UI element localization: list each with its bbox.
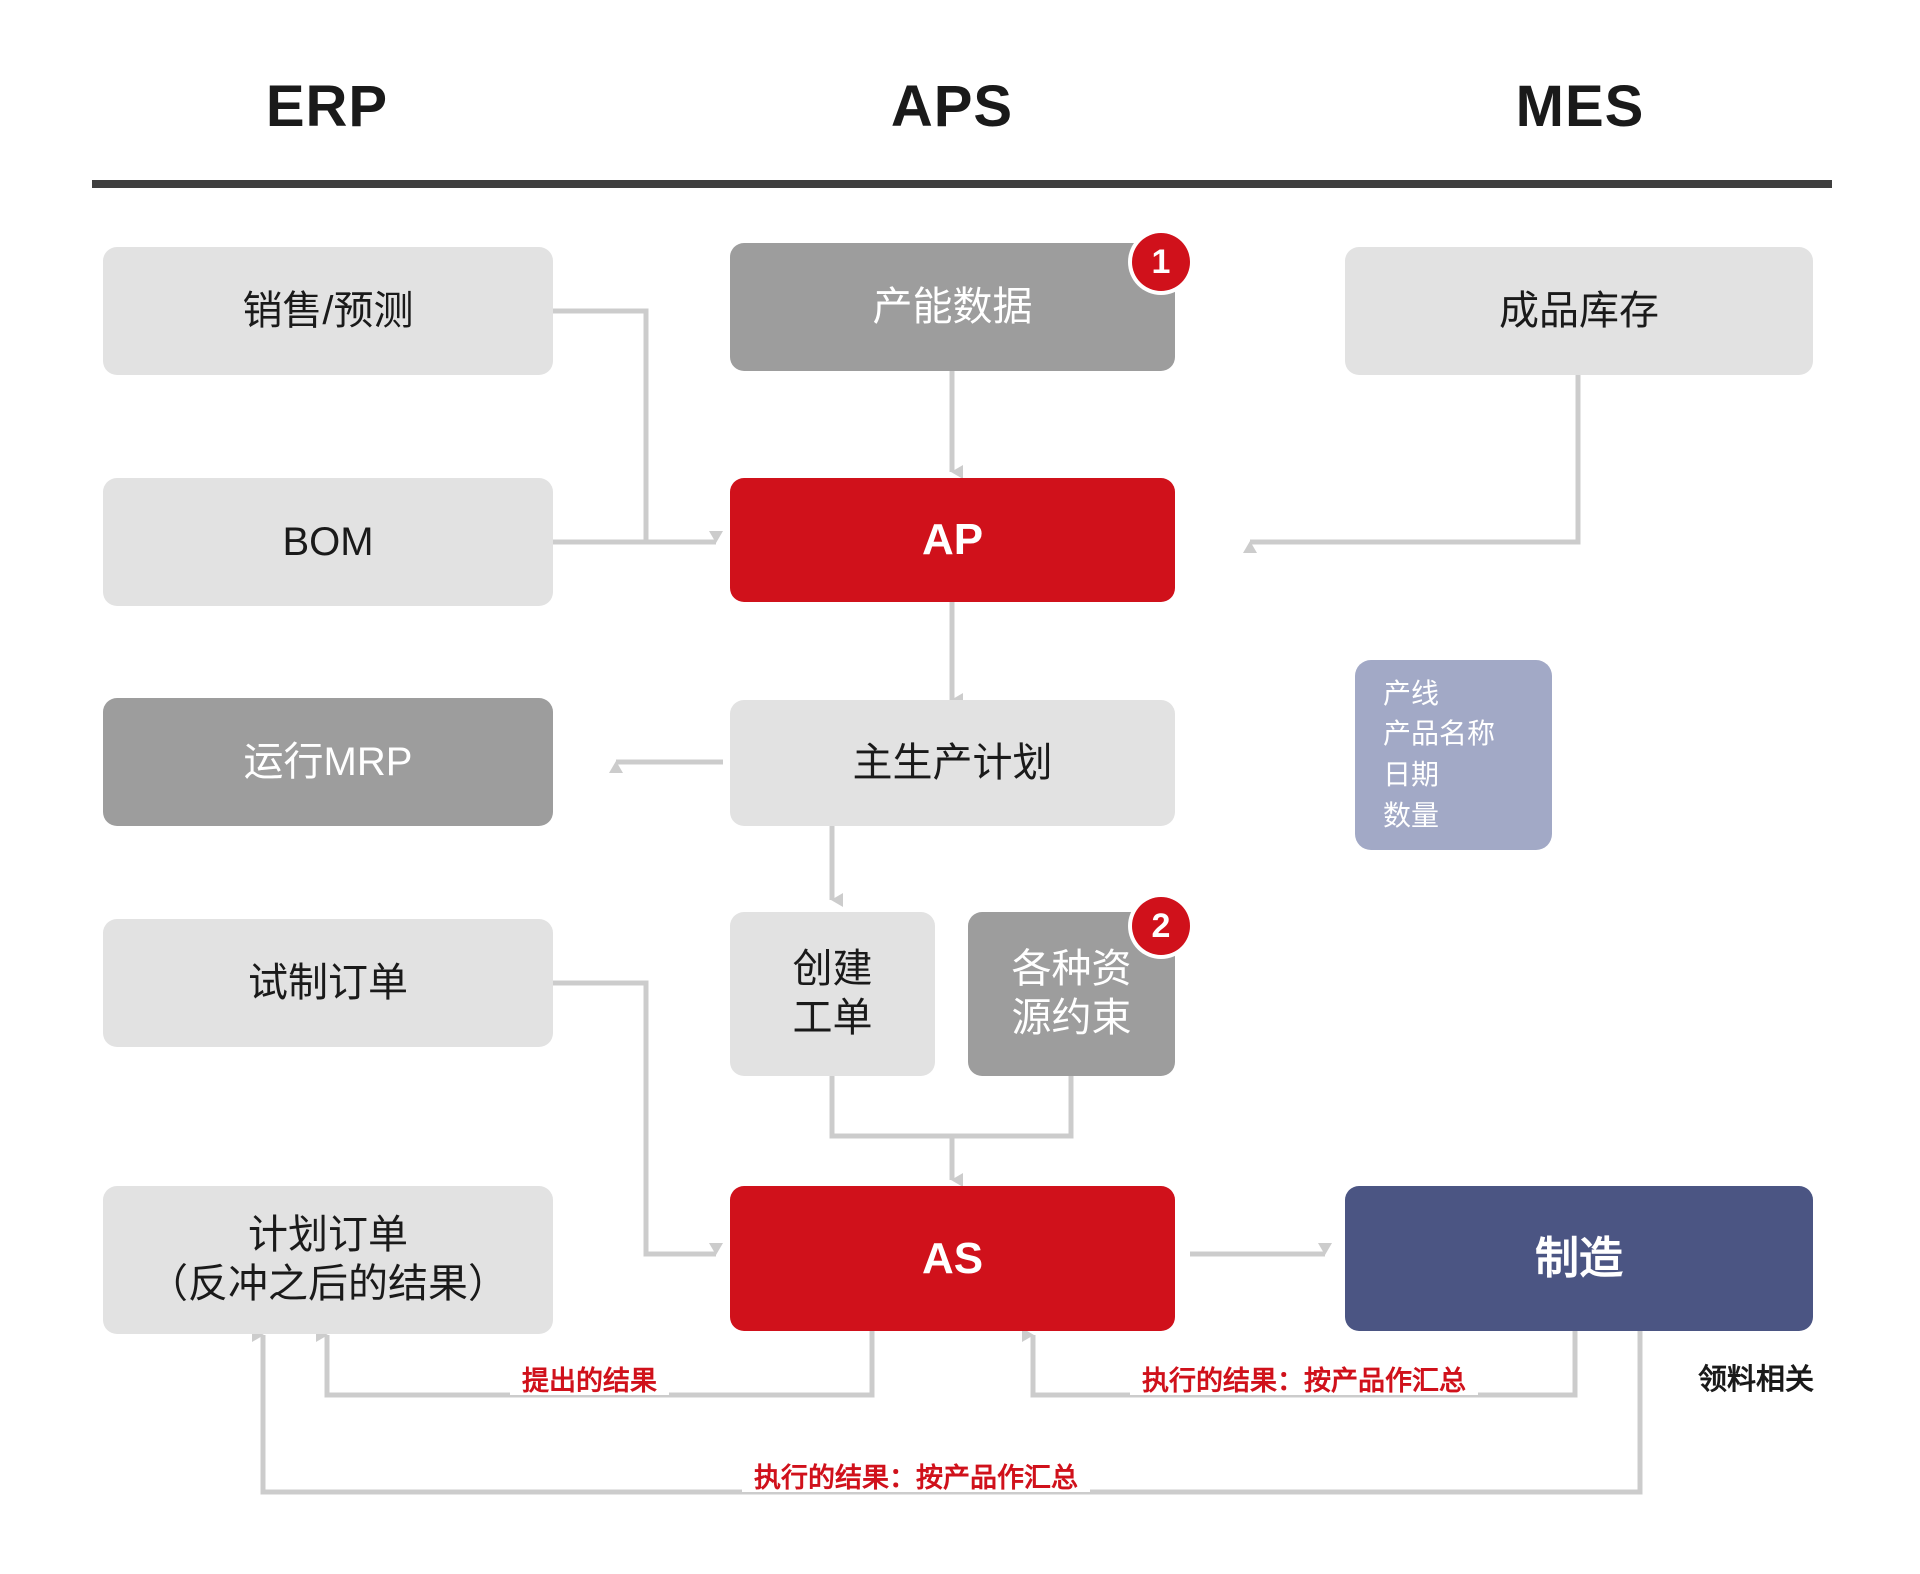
node-capacity-data-label: 产能数据 bbox=[863, 283, 1043, 332]
diagram-canvas: ERP APS MES 销售/预测 BOM 运行MRP 试制订单 计划订单 （反… bbox=[0, 0, 1920, 1574]
note-material-related-text: 领料相关 bbox=[1698, 1364, 1814, 1396]
node-planned-order[interactable]: 计划订单 （反冲之后的结果） bbox=[103, 1186, 553, 1334]
column-header-mes: MES bbox=[1345, 78, 1815, 136]
column-header-aps-label: APS bbox=[891, 74, 1013, 139]
node-master-production-plan[interactable]: 主生产计划 bbox=[730, 700, 1175, 826]
node-info-card-lines: 产线 产品名称 日期 数量 bbox=[1355, 674, 1495, 836]
node-sales-forecast[interactable]: 销售/预测 bbox=[103, 247, 553, 375]
info-card-line-2: 产品名称 bbox=[1383, 718, 1495, 749]
note-material-related: 领料相关 bbox=[1698, 1366, 1814, 1395]
node-bom-label: BOM bbox=[272, 518, 383, 567]
node-run-mrp[interactable]: 运行MRP bbox=[103, 698, 553, 826]
badge-1: 1 bbox=[1132, 233, 1190, 291]
node-create-work-order[interactable]: 创建 工单 bbox=[730, 912, 935, 1076]
edge-label-proposed-result-text: 提出的结果 bbox=[522, 1366, 657, 1396]
node-create-work-order-label-line2: 工单 bbox=[783, 994, 883, 1043]
node-create-work-order-label-line1: 创建 bbox=[783, 945, 883, 994]
node-as[interactable]: AS bbox=[730, 1186, 1175, 1331]
edge-trialorder-to-as bbox=[553, 983, 716, 1254]
edge-label-proposed-result: 提出的结果 bbox=[510, 1368, 669, 1395]
node-resource-constraints-label-line2: 源约束 bbox=[1002, 994, 1142, 1043]
node-sales-forecast-label: 销售/预测 bbox=[232, 287, 423, 336]
info-card-line-3: 日期 bbox=[1383, 759, 1439, 790]
column-header-aps: APS bbox=[717, 78, 1187, 136]
node-resource-constraints-label-line1: 各种资 bbox=[1002, 945, 1142, 994]
header-rule bbox=[92, 180, 1832, 188]
column-header-mes-label: MES bbox=[1516, 74, 1645, 139]
edge-label-executed-result-right-text: 执行的结果：按产品作汇总 bbox=[1142, 1366, 1466, 1396]
edge-label-executed-result-right: 执行的结果：按产品作汇总 bbox=[1130, 1368, 1478, 1395]
info-card-line-4: 数量 bbox=[1383, 800, 1439, 831]
badge-2: 2 bbox=[1132, 897, 1190, 955]
node-planned-order-label-line2: （反冲之后的结果） bbox=[138, 1260, 518, 1309]
node-trial-order[interactable]: 试制订单 bbox=[103, 919, 553, 1047]
edge-label-executed-result-bottom-text: 执行的结果：按产品作汇总 bbox=[754, 1463, 1078, 1493]
edge-label-executed-result-bottom: 执行的结果：按产品作汇总 bbox=[742, 1465, 1090, 1492]
badge-1-label: 1 bbox=[1152, 245, 1171, 279]
node-trial-order-label: 试制订单 bbox=[238, 959, 418, 1008]
edge-createwo-down bbox=[832, 1075, 952, 1136]
node-finished-goods-stock[interactable]: 成品库存 bbox=[1345, 247, 1813, 375]
node-master-production-plan-label: 主生产计划 bbox=[843, 739, 1063, 788]
edge-sales-to-ap bbox=[553, 311, 646, 542]
node-ap[interactable]: AP bbox=[730, 478, 1175, 602]
node-finished-goods-stock-label: 成品库存 bbox=[1489, 287, 1669, 336]
info-card-line-1: 产线 bbox=[1383, 678, 1439, 709]
node-manufacture[interactable]: 制造 bbox=[1345, 1186, 1813, 1331]
column-header-erp-label: ERP bbox=[266, 74, 388, 139]
node-as-label: AS bbox=[912, 1232, 993, 1286]
node-planned-order-label-line1: 计划订单 bbox=[238, 1211, 418, 1260]
column-header-erp: ERP bbox=[92, 78, 562, 136]
node-manufacture-label: 制造 bbox=[1525, 1232, 1633, 1286]
node-bom[interactable]: BOM bbox=[103, 478, 553, 606]
node-run-mrp-label: 运行MRP bbox=[234, 738, 423, 787]
node-capacity-data[interactable]: 产能数据 bbox=[730, 243, 1175, 371]
badge-2-label: 2 bbox=[1152, 909, 1171, 943]
edge-constraints-down bbox=[952, 1075, 1071, 1136]
node-ap-label: AP bbox=[912, 513, 993, 567]
node-info-card: 产线 产品名称 日期 数量 bbox=[1355, 660, 1552, 850]
